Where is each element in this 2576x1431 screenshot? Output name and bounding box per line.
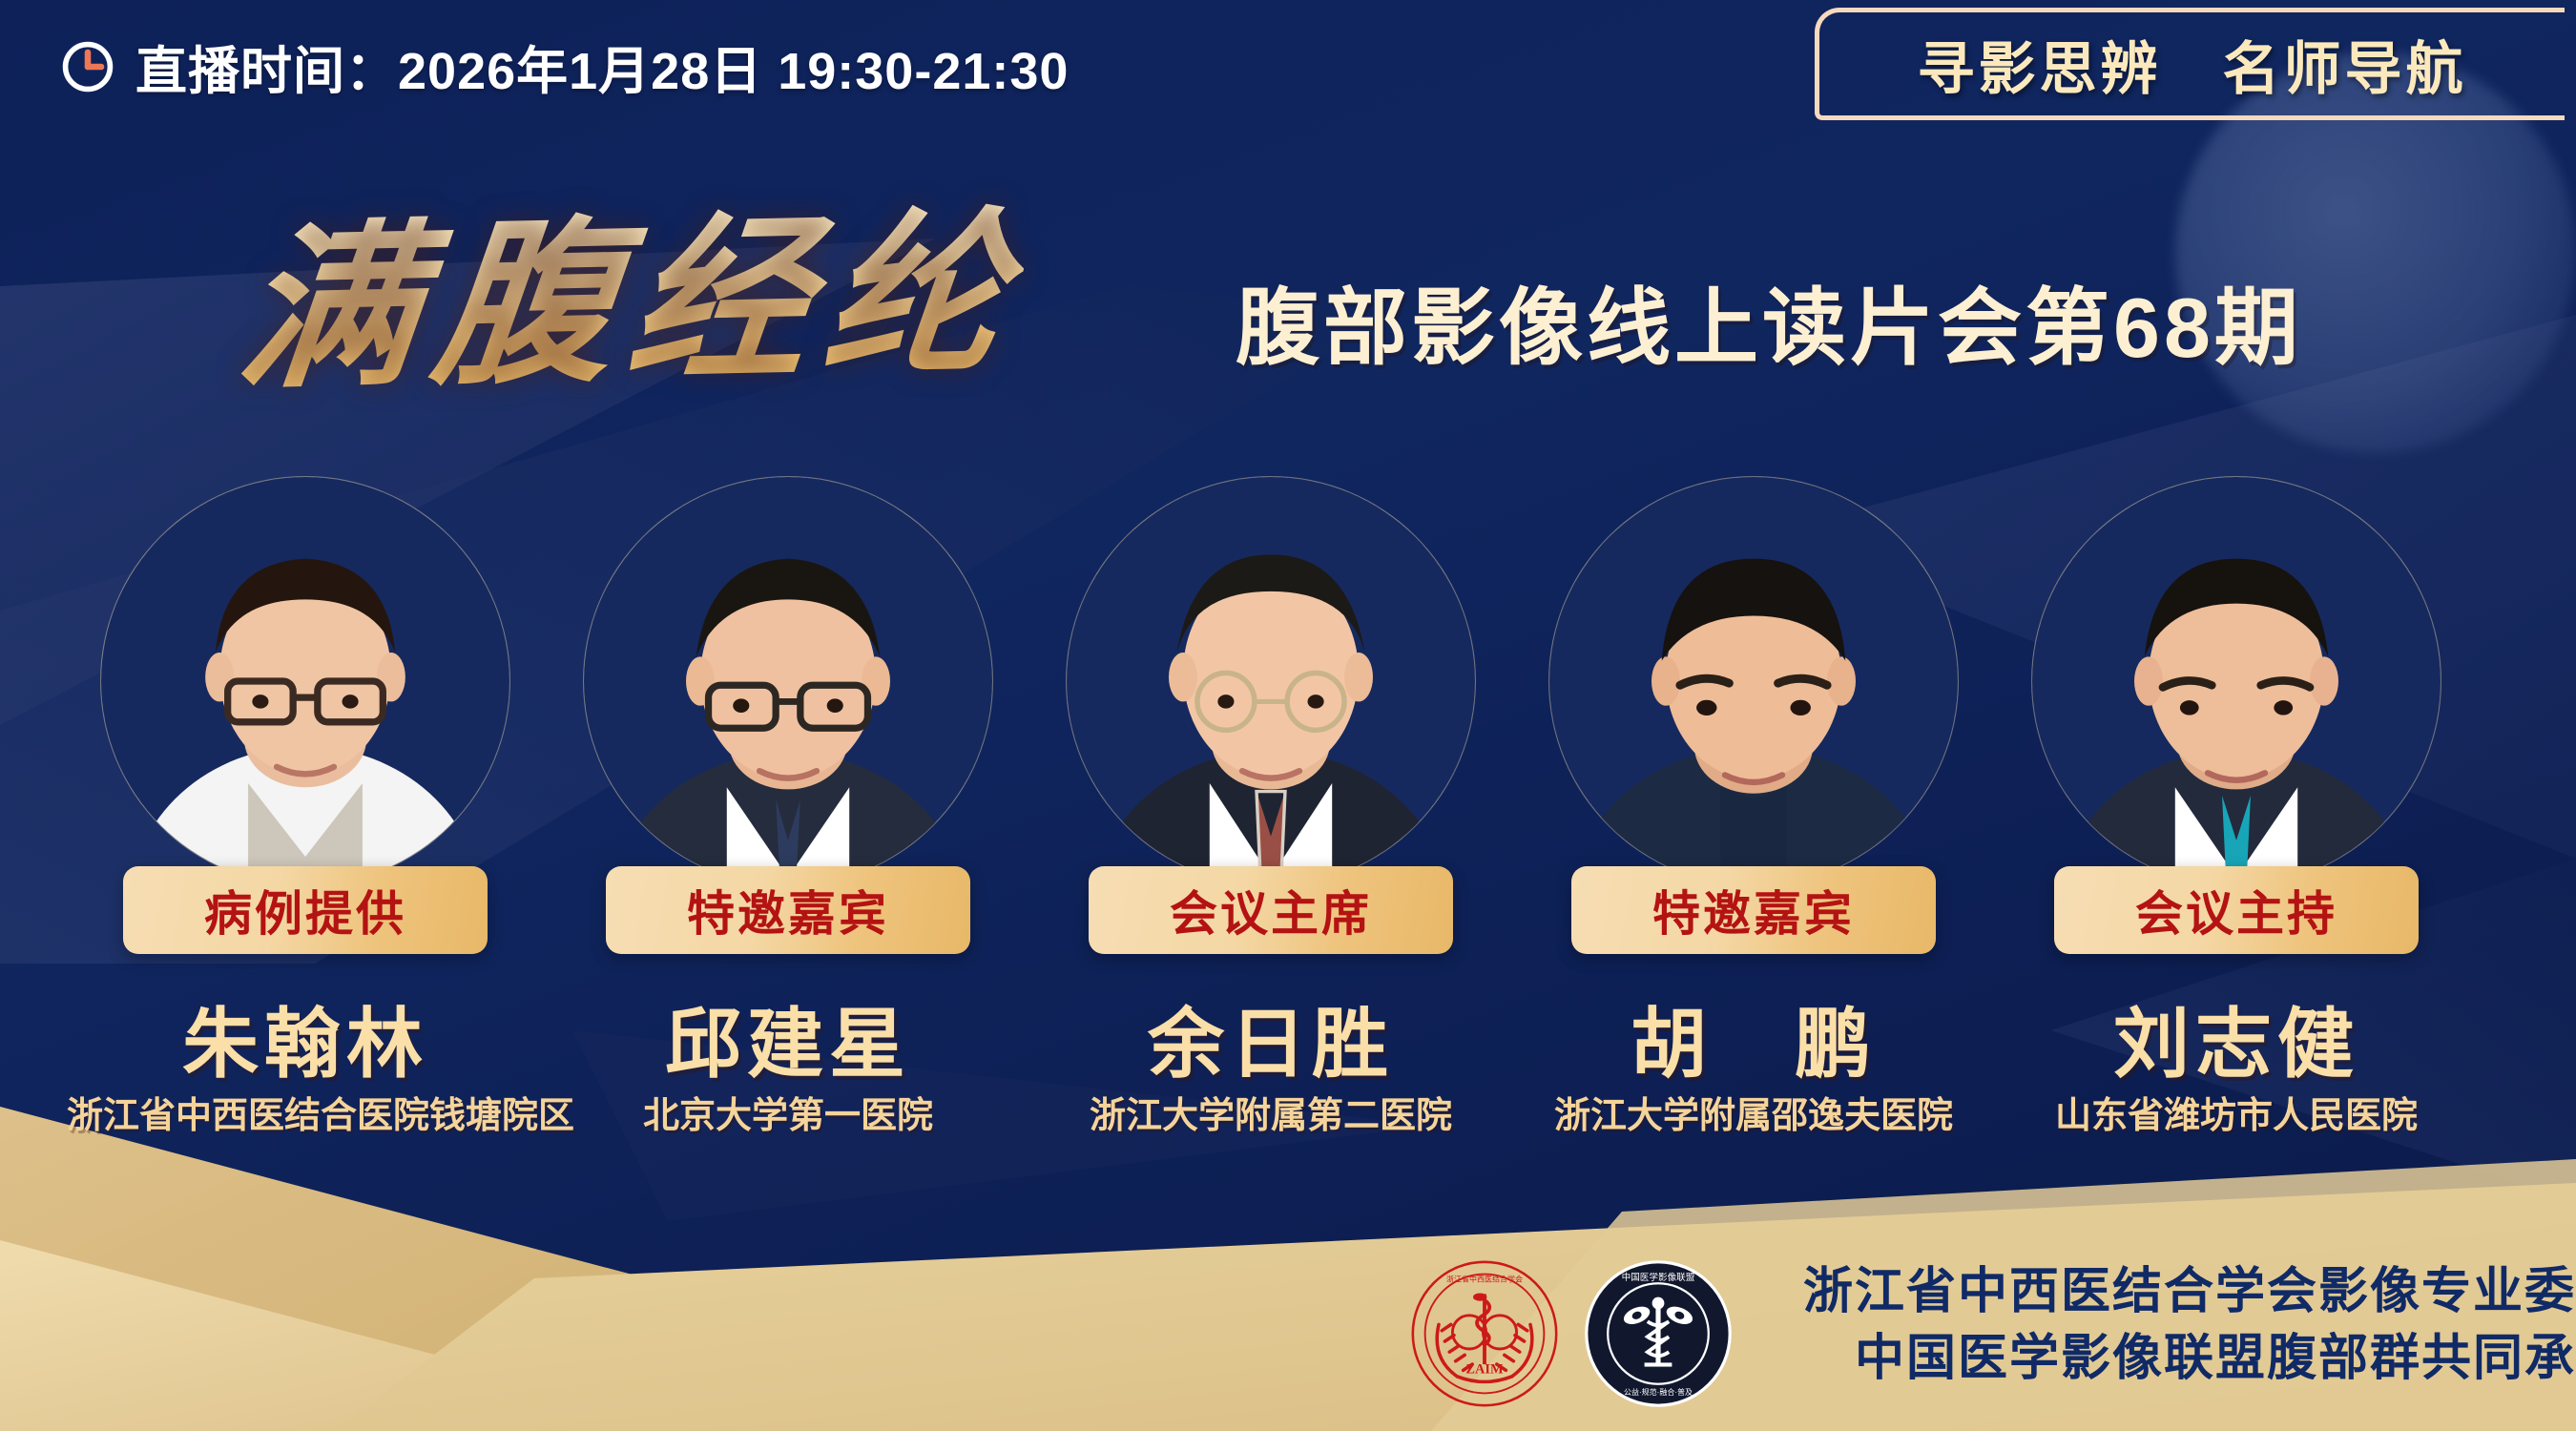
page-title: 满腹经纶 (229, 149, 1035, 423)
avatar (2032, 477, 2441, 885)
zaim-association-logo: ZAIM 浙江省中西医结合学会 (1408, 1257, 1561, 1410)
china-medical-imaging-alliance-logo: 中国医学影像联盟 公益·规范·融合·普及 (1582, 1257, 1735, 1410)
svg-text:浙江省中西医结合学会: 浙江省中西医结合学会 (1446, 1275, 1523, 1284)
speaker-organization: 北京大学第一医院 (550, 1086, 1027, 1138)
speaker-name: 邱建星 (550, 983, 1027, 1093)
speaker-card[interactable]: 会议主持 刘志健 山东省潍坊市人民医院 (1998, 467, 2475, 885)
speaker-name: 朱翰林 (67, 983, 544, 1093)
poster-root: 直播时间：2026年1月28日 19:30-21:30 寻影思辨 名师导航 满腹… (0, 0, 2576, 1431)
footer-organizers: 浙江省中西医结合学会影像专业委员会 中国医学影像联盟腹部群共同承办 (1803, 1259, 2576, 1392)
slogan-badge: 寻影思辨 名师导航 (1815, 8, 2565, 120)
avatar (584, 477, 992, 885)
speaker-card[interactable]: 特邀嘉宾 邱建星 北京大学第一医院 (550, 467, 1027, 885)
portrait-yu-risheng (1067, 477, 1475, 885)
avatar (1549, 477, 1958, 885)
speaker-name: 余日胜 (1032, 983, 1509, 1093)
role-label: 病例提供 (204, 876, 406, 944)
role-badge: 特邀嘉宾 (606, 866, 970, 954)
headline-block: 满腹经纶 腹部影像线上读片会第68期 (0, 157, 2576, 405)
clock-icon (59, 38, 116, 95)
avatar (101, 477, 509, 885)
footer-organizer-line-2: 中国医学影像联盟腹部群共同承办 (1803, 1326, 2576, 1393)
portrait-zhu-hanlin (101, 477, 509, 885)
speaker-card[interactable]: 病例提供 朱翰林 浙江省中西医结合医院钱塘院区 (67, 467, 544, 885)
speaker-name: 胡 鹏 (1515, 983, 1992, 1093)
speaker-name: 刘志健 (1998, 983, 2475, 1093)
role-label: 会议主持 (2135, 876, 2337, 944)
role-badge: 会议主席 (1089, 866, 1453, 954)
speaker-organization: 浙江大学附属邵逸夫医院 (1515, 1086, 1992, 1138)
speaker-organization: 浙江大学附属第二医院 (1032, 1086, 1509, 1138)
role-badge: 会议主持 (2054, 866, 2419, 954)
footer-organizer-line-1: 浙江省中西医结合学会影像专业委员会 (1803, 1259, 2576, 1326)
portrait-hu-peng (1549, 477, 1958, 885)
speaker-card[interactable]: 会议主席 余日胜 浙江大学附属第二医院 (1032, 467, 1509, 885)
role-badge: 特邀嘉宾 (1571, 866, 1936, 954)
portrait-qiu-jianxing (584, 477, 992, 885)
speaker-organization: 浙江省中西医结合医院钱塘院区 (67, 1086, 544, 1138)
avatar (1067, 477, 1475, 885)
footer-logo-group: ZAIM 浙江省中西医结合学会 中国医学影像联盟 公益·规范·融合·普及 (1408, 1257, 1735, 1410)
role-badge: 病例提供 (123, 866, 488, 954)
speaker-list: 病例提供 朱翰林 浙江省中西医结合医院钱塘院区 (0, 467, 2576, 1135)
role-label: 会议主席 (1170, 876, 1372, 944)
slogan-text: 寻影思辨 名师导航 (1918, 23, 2467, 106)
portrait-liu-zhijian (2032, 477, 2441, 885)
role-label: 特邀嘉宾 (687, 876, 889, 944)
svg-text:公益·规范·融合·普及: 公益·规范·融合·普及 (1624, 1387, 1693, 1397)
role-label: 特邀嘉宾 (1652, 876, 1855, 944)
live-time-label: 直播时间：2026年1月28日 19:30-21:30 (135, 29, 1069, 104)
live-time-block: 直播时间：2026年1月28日 19:30-21:30 (59, 29, 1069, 104)
speaker-organization: 山东省潍坊市人民医院 (1998, 1086, 2475, 1138)
speaker-card[interactable]: 特邀嘉宾 胡 鹏 浙江大学附属邵逸夫医院 (1515, 467, 1992, 885)
svg-text:ZAIM: ZAIM (1465, 1362, 1504, 1378)
page-subtitle: 腹部影像线上读片会第68期 (1236, 260, 2302, 382)
svg-text:中国医学影像联盟: 中国医学影像联盟 (1622, 1272, 1695, 1283)
